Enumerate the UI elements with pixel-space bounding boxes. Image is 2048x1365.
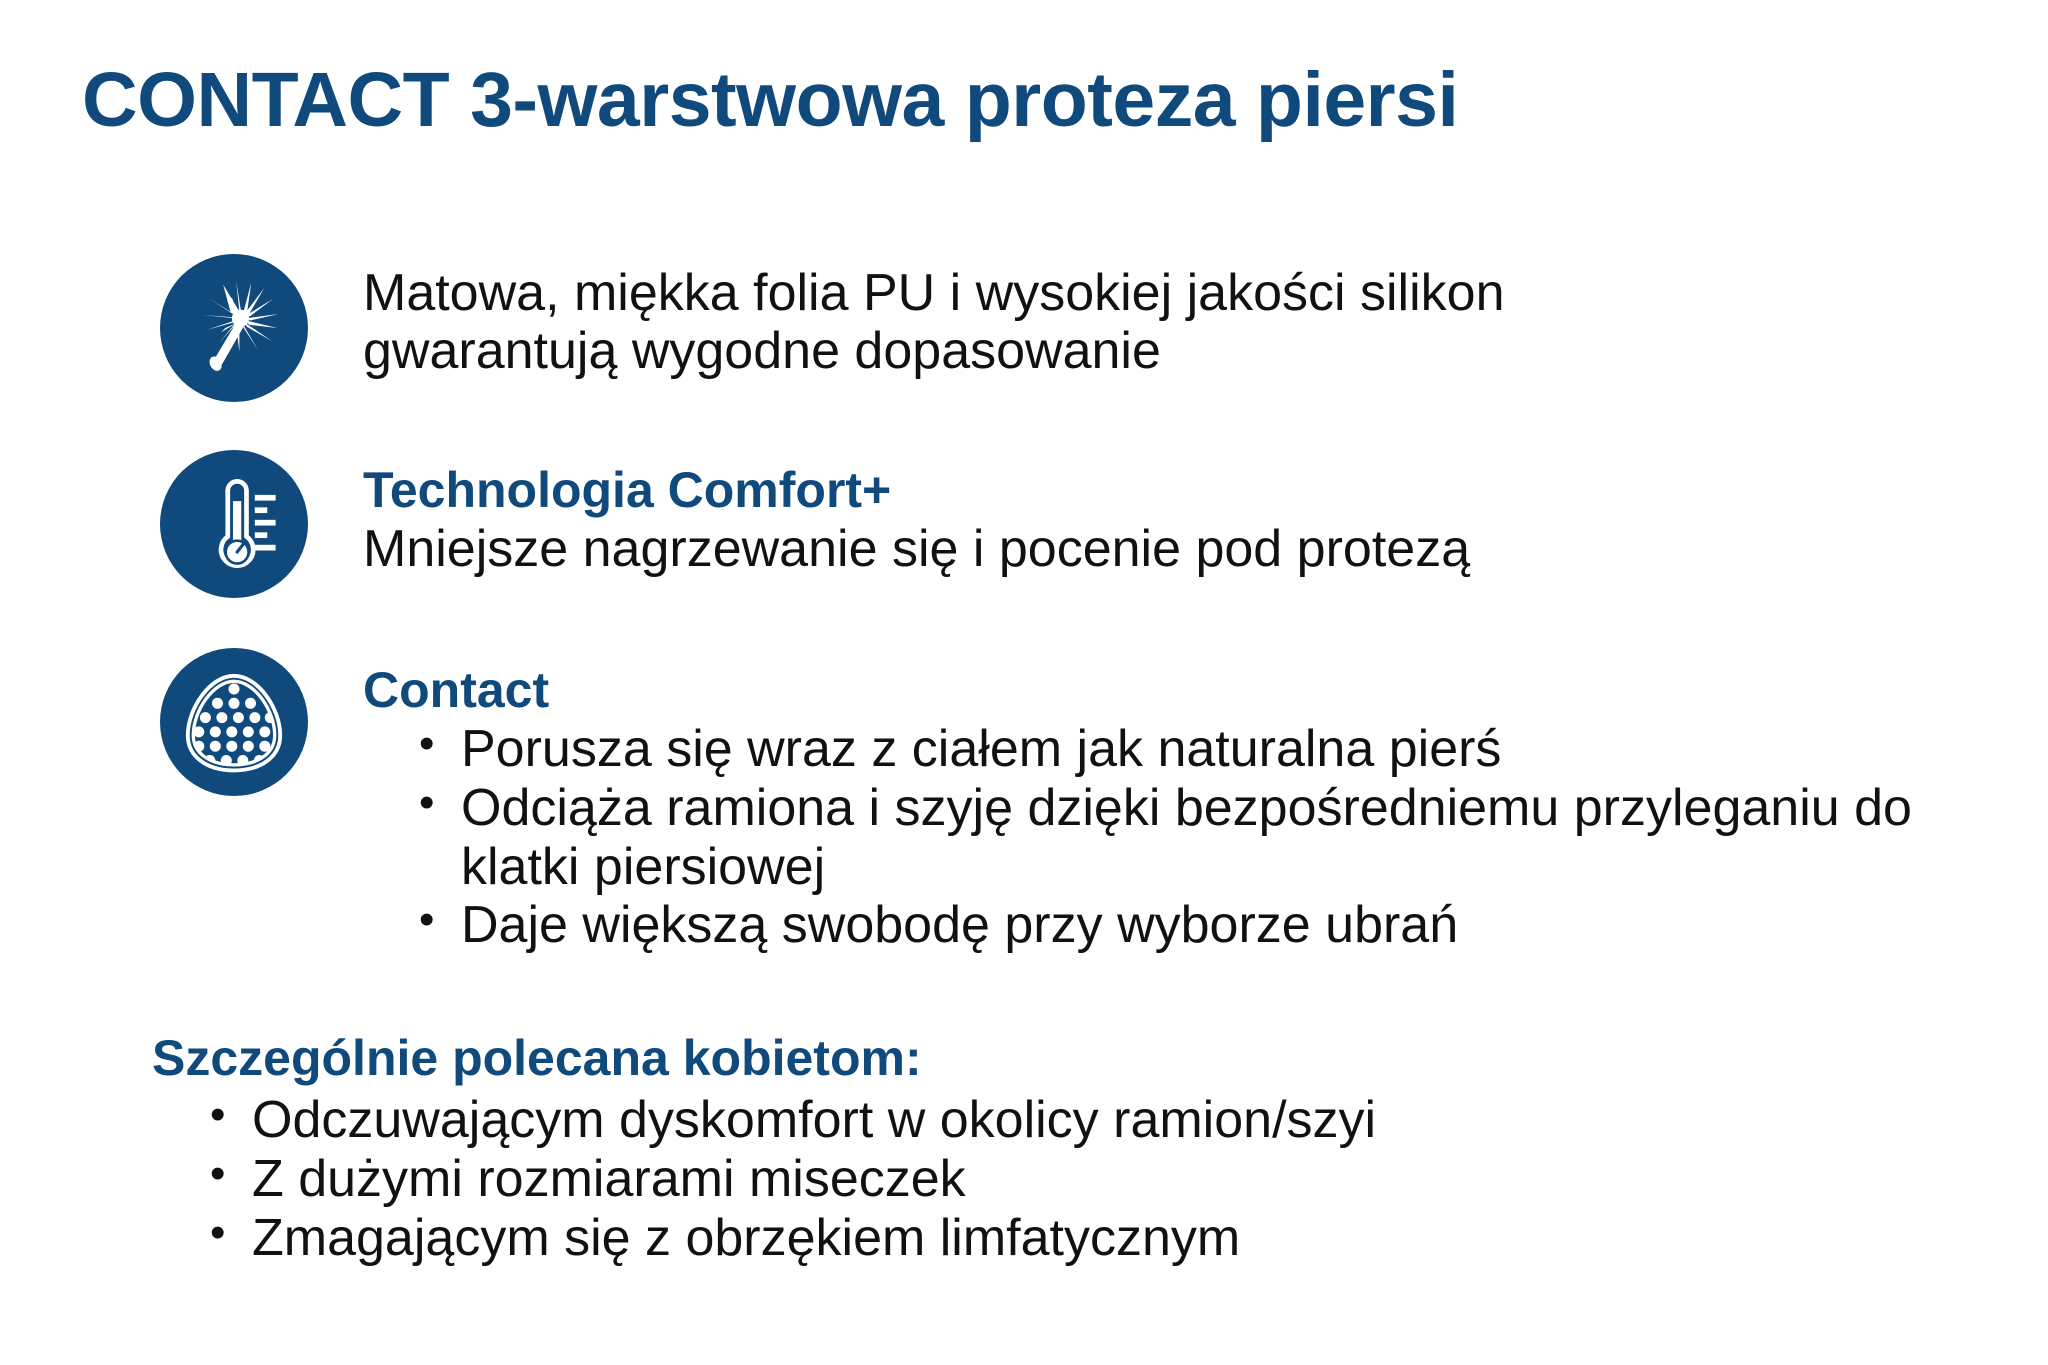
feature-2-heading: Technologia Comfort+ [363, 462, 2003, 518]
list-item: Odczuwającym dyskomfort w okolicy ramion… [202, 1091, 1952, 1150]
thermometer-icon [182, 472, 286, 576]
feature-text-1: Matowa, miękka folia PU i wysokiej jakoś… [363, 264, 2003, 380]
feature-icon-badge-2 [160, 450, 308, 598]
list-item: Daje większą swobodę przy wyborze ubrań [411, 896, 2043, 955]
feature-3-bullet-list: Porusza się wraz z ciałem jak naturalna … [411, 720, 2043, 955]
page-title: CONTACT 3-warstwowa proteza piersi [82, 58, 1458, 143]
feature-icon-badge-1 [160, 254, 308, 402]
dotted-prosthesis-icon [179, 667, 289, 777]
list-item: Odciąża ramiona i szyję dzięki bezpośred… [411, 779, 2043, 897]
recommended-for-section: Szczególnie polecana kobietom: Odczuwają… [152, 1030, 1952, 1267]
list-item: Z dużymi rozmiarami miseczek [202, 1150, 1952, 1209]
list-item: Porusza się wraz z ciałem jak naturalna … [411, 720, 2043, 779]
slide-root: CONTACT 3-warstwowa proteza piersi [0, 0, 2048, 1365]
feature-1-line-1: Matowa, miękka folia PU i wysokiej jakoś… [363, 264, 2003, 322]
feature-3-heading: Contact [363, 662, 2043, 718]
feature-2-line-1: Mniejsze nagrzewanie się i pocenie pod p… [363, 520, 2003, 578]
recommended-for-heading: Szczególnie polecana kobietom: [152, 1030, 1952, 1087]
list-item: Zmagającym się z obrzękiem limfatycznym [202, 1209, 1952, 1268]
feature-1-line-2: gwarantują wygodne dopasowanie [363, 322, 2003, 380]
dandelion-icon [180, 274, 288, 382]
feature-text-3: Contact Porusza się wraz z ciałem jak na… [363, 662, 2043, 955]
recommended-for-bullet-list: Odczuwającym dyskomfort w okolicy ramion… [202, 1091, 1952, 1267]
feature-text-2: Technologia Comfort+ Mniejsze nagrzewani… [363, 462, 2003, 578]
feature-icon-badge-3 [160, 648, 308, 796]
